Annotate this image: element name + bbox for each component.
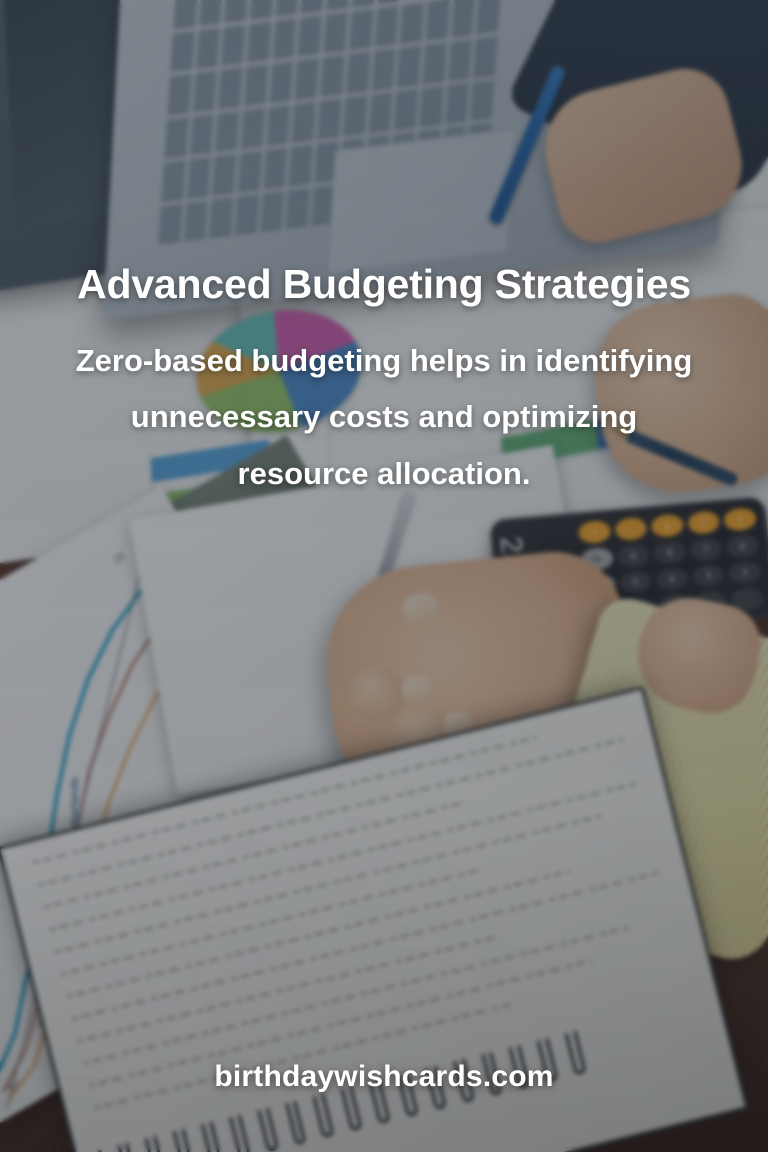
page-subtitle: Zero-based budgeting helps in identifyin… bbox=[70, 333, 698, 502]
site-watermark: birthdaywishcards.com bbox=[0, 1060, 768, 1094]
text-overlay: Advanced Budgeting Strategies Zero-based… bbox=[0, 0, 768, 1152]
page-title: Advanced Budgeting Strategies bbox=[0, 262, 768, 307]
pinterest-style-card: United States (Billboard 100) Netherland… bbox=[0, 0, 768, 1152]
